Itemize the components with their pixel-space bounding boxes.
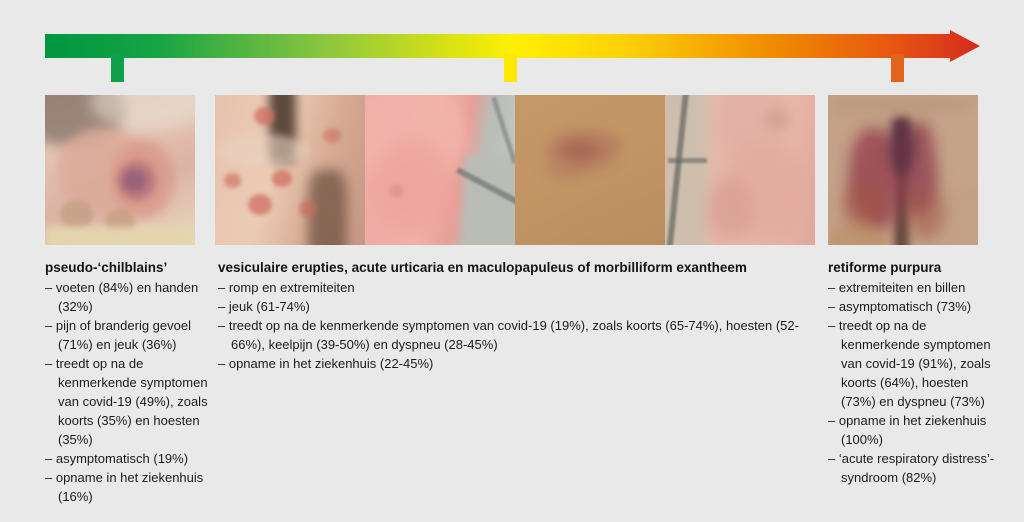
list-item: treedt op na de kenmerkende symptomen va… bbox=[45, 354, 217, 449]
list-item: pijn of branderig gevoel (71%) en jeuk (… bbox=[45, 316, 217, 354]
photo-vesicular-fingers bbox=[215, 95, 365, 245]
bullet-list: voeten (84%) en handen (32%) pijn of bra… bbox=[45, 278, 217, 506]
list-item: opname in het ziekenhuis (16%) bbox=[45, 468, 217, 506]
column-title: vesiculaire erupties, acute urticaria en… bbox=[218, 258, 818, 277]
list-item: asymptomatisch (73%) bbox=[828, 297, 1006, 316]
list-item: asymptomatisch (19%) bbox=[45, 449, 217, 468]
list-item: treedt op na de kenmerkende symptomen va… bbox=[828, 316, 1006, 411]
bullet-list: extremiteiten en billen asymptomatisch (… bbox=[828, 278, 1006, 487]
photo-urticaria-leg bbox=[365, 95, 515, 245]
column-title: retiforme purpura bbox=[828, 258, 1006, 277]
column-retiform-purpura: retiforme purpura extremiteiten en bille… bbox=[828, 258, 1006, 487]
photo-retiform-purpura bbox=[828, 95, 978, 245]
column-title: pseudo-‘chilblains’ bbox=[45, 258, 217, 277]
tick-mild bbox=[111, 54, 124, 82]
bullet-list: romp en extremiteiten jeuk (61-74%) tree… bbox=[218, 278, 818, 373]
list-item: romp en extremiteiten bbox=[218, 278, 818, 297]
list-item: voeten (84%) en handen (32%) bbox=[45, 278, 217, 316]
list-item: opname in het ziekenhuis (100%) bbox=[828, 411, 1006, 449]
clinical-photo-strip bbox=[0, 95, 1024, 245]
column-pseudo-chilblains: pseudo-‘chilblains’ voeten (84%) en hand… bbox=[45, 258, 217, 506]
tick-moderate bbox=[504, 54, 517, 82]
photo-morbilliform-flank bbox=[665, 95, 815, 245]
list-item: extremiteiten en billen bbox=[828, 278, 1006, 297]
list-item: ‘acute respiratory distress’-syndroom (8… bbox=[828, 449, 1006, 487]
column-vesicular-urticaria-maculopapular: vesiculaire erupties, acute urticaria en… bbox=[218, 258, 818, 373]
photo-maculopapular-trunk bbox=[515, 95, 665, 245]
list-item: jeuk (61-74%) bbox=[218, 297, 818, 316]
photo-pseudo-chilblains-toes bbox=[45, 95, 195, 245]
list-item: treedt op na de kenmerkende symptomen va… bbox=[218, 316, 818, 354]
tick-severe bbox=[891, 54, 904, 82]
list-item: opname in het ziekenhuis (22-45%) bbox=[218, 354, 818, 373]
